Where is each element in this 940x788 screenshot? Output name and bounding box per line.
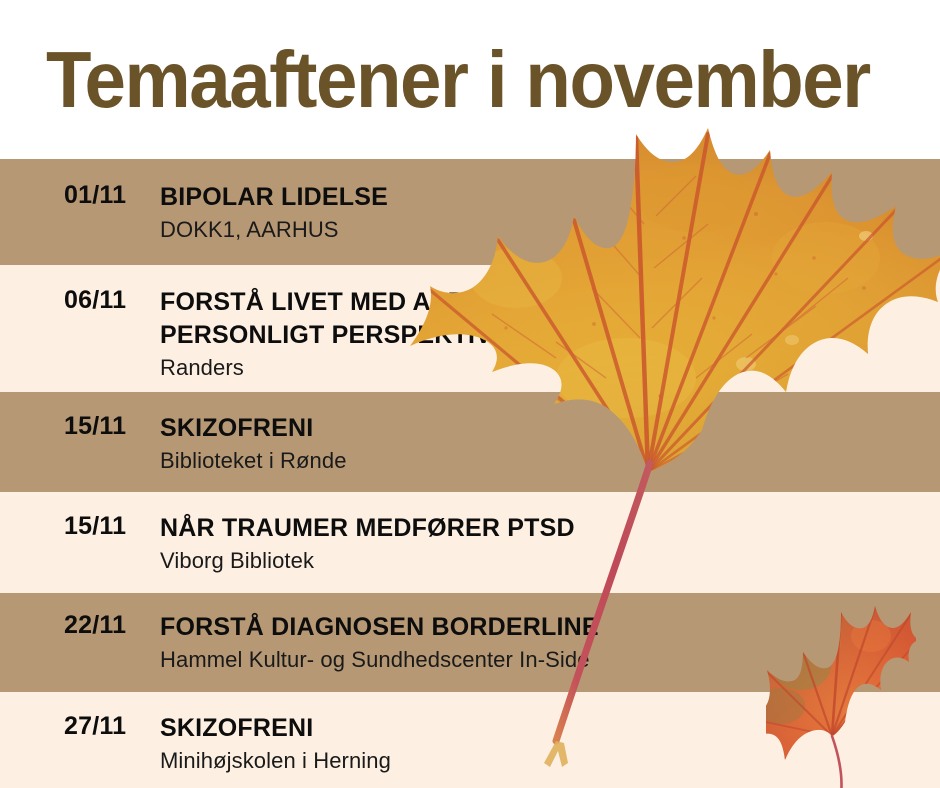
event-row[interactable]: 27/11 SKIZOFRENI Minihøjskolen i Herning xyxy=(0,692,940,788)
event-date: 27/11 xyxy=(0,712,160,741)
event-venue: DOKK1, AARHUS xyxy=(160,216,928,244)
event-title: SKIZOFRENI xyxy=(160,412,928,445)
event-venue: Minihøjskolen i Herning xyxy=(160,747,928,775)
event-venue: Biblioteket i Rønde xyxy=(160,447,928,475)
event-venue: Hammel Kultur- og Sundhedscenter In-Side xyxy=(160,646,928,674)
event-body: FORSTÅ DIAGNOSEN BORDERLINE Hammel Kultu… xyxy=(160,611,940,674)
event-row[interactable]: 15/11 NÅR TRAUMER MEDFØRER PTSD Viborg B… xyxy=(0,492,940,593)
event-row[interactable]: 06/11 FORSTÅ LIVET MED AUTISME UD FRA ET… xyxy=(0,265,940,392)
event-title: BIPOLAR LIDELSE xyxy=(160,181,928,214)
event-body: SKIZOFRENI Minihøjskolen i Herning xyxy=(160,712,940,775)
event-date: 22/11 xyxy=(0,611,160,640)
event-date: 01/11 xyxy=(0,181,160,210)
event-title: FORSTÅ LIVET MED AUTISME UD FRA ET FAGLI… xyxy=(160,286,928,352)
event-title: NÅR TRAUMER MEDFØRER PTSD xyxy=(160,512,928,545)
event-title: SKIZOFRENI xyxy=(160,712,928,745)
title-band: Temaaftener i november xyxy=(0,0,940,159)
event-date: 15/11 xyxy=(0,412,160,441)
event-row[interactable]: 22/11 FORSTÅ DIAGNOSEN BORDERLINE Hammel… xyxy=(0,593,940,692)
event-title: FORSTÅ DIAGNOSEN BORDERLINE xyxy=(160,611,928,644)
event-date: 06/11 xyxy=(0,286,160,315)
event-body: BIPOLAR LIDELSE DOKK1, AARHUS xyxy=(160,181,940,244)
event-date: 15/11 xyxy=(0,512,160,541)
event-list: 01/11 BIPOLAR LIDELSE DOKK1, AARHUS 06/1… xyxy=(0,159,940,788)
page-title: Temaaftener i november xyxy=(46,40,870,120)
event-body: SKIZOFRENI Biblioteket i Rønde xyxy=(160,412,940,475)
event-row[interactable]: 15/11 SKIZOFRENI Biblioteket i Rønde xyxy=(0,392,940,492)
poster-canvas: Temaaftener i november 01/11 BIPOLAR LID… xyxy=(0,0,940,788)
event-row[interactable]: 01/11 BIPOLAR LIDELSE DOKK1, AARHUS xyxy=(0,159,940,265)
event-venue: Viborg Bibliotek xyxy=(160,547,928,575)
event-body: NÅR TRAUMER MEDFØRER PTSD Viborg Bibliot… xyxy=(160,512,940,575)
event-body: FORSTÅ LIVET MED AUTISME UD FRA ET FAGLI… xyxy=(160,286,940,382)
event-venue: Randers xyxy=(160,354,928,382)
